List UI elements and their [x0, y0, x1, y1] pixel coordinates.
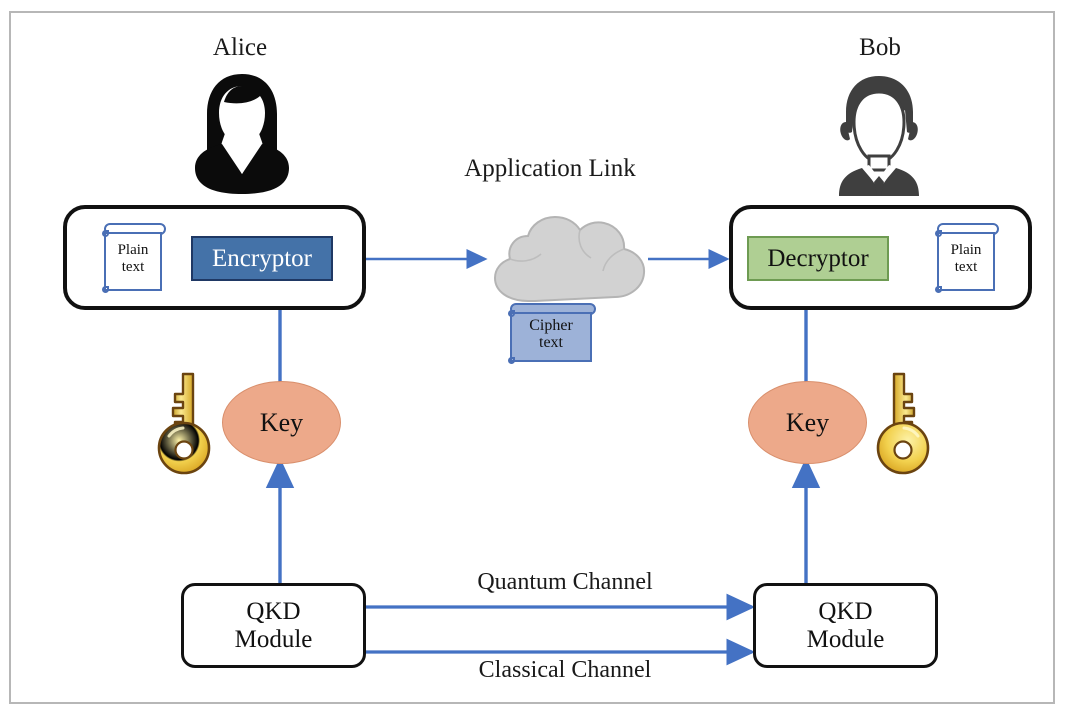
- qkd-label-line-1: QKD: [235, 598, 313, 626]
- bob-plaintext-label: Plain text: [933, 242, 999, 276]
- cipher-text-label: Cipher text: [506, 317, 596, 353]
- woman-avatar-icon: [178, 70, 306, 198]
- alice-plaintext-label: Plain text: [100, 242, 166, 276]
- ciphertext-line-1: Cipher: [506, 317, 596, 335]
- quantum-channel-label: Quantum Channel: [420, 569, 710, 596]
- scroll-curl-bottom: [102, 286, 109, 293]
- encryptor-box[interactable]: Encryptor: [191, 236, 333, 281]
- scroll-curl-top: [102, 230, 109, 237]
- qkd-label-line-2: Module: [807, 626, 885, 654]
- plaintext-line-1: Plain: [933, 242, 999, 259]
- qkd-label-line-2: Module: [235, 626, 313, 654]
- ciphertext-line-2: text: [506, 335, 596, 353]
- scroll-curl-top: [935, 230, 942, 237]
- qkd-label-line-1: QKD: [807, 598, 885, 626]
- diagram-canvas: Alice Plain text Encryptor: [0, 0, 1068, 716]
- plaintext-line-2: text: [933, 259, 999, 276]
- bob-key-oval: Key: [748, 381, 867, 464]
- decryptor-box[interactable]: Decryptor: [747, 236, 889, 281]
- cipher-text-scroll: Cipher text: [506, 303, 596, 366]
- key-icon: [155, 368, 211, 480]
- key-icon: [876, 368, 932, 480]
- bob-qkd-module[interactable]: QKD Module: [753, 583, 938, 668]
- bob-name-label: Bob: [790, 34, 970, 62]
- application-link-label: Application Link: [420, 155, 680, 183]
- alice-name-label: Alice: [150, 34, 330, 62]
- alice-qkd-module[interactable]: QKD Module: [181, 583, 366, 668]
- classical-channel-label: Classical Channel: [420, 657, 710, 684]
- scroll-curl-bottom: [508, 357, 515, 364]
- man-avatar-icon: [815, 70, 943, 198]
- bob-plaintext-scroll: Plain text: [933, 223, 999, 295]
- cloud-icon: [481, 205, 653, 317]
- alice-key-oval: Key: [222, 381, 341, 464]
- plaintext-line-2: text: [100, 259, 166, 276]
- scroll-curl-bottom: [935, 286, 942, 293]
- plaintext-line-1: Plain: [100, 242, 166, 259]
- alice-plaintext-scroll: Plain text: [100, 223, 166, 295]
